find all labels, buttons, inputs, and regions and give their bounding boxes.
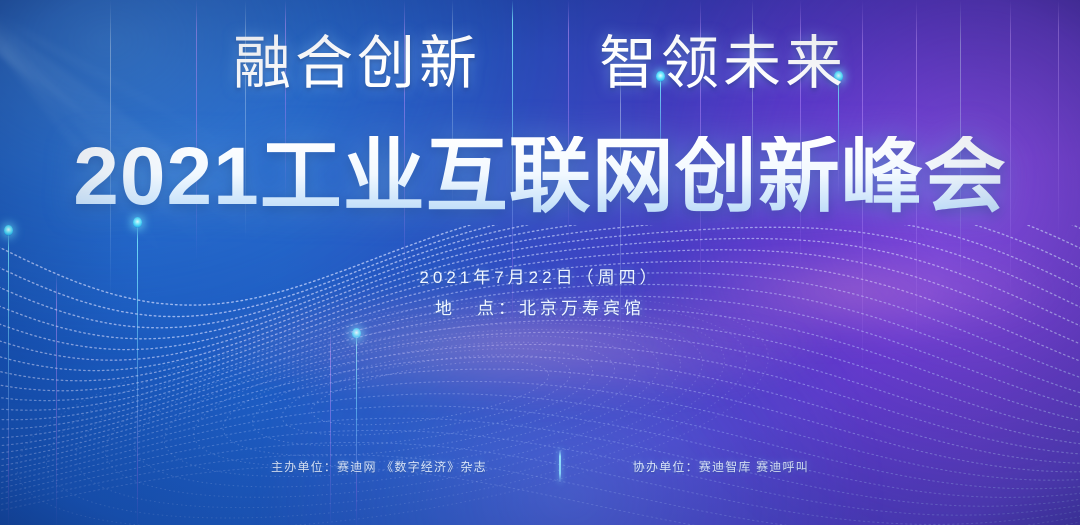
page-title: 2021工业互联网创新峰会 [0,136,1080,218]
credits: 主办单位：赛迪网 《数字经济》杂志 协办单位：赛迪智库 赛迪呼叫 [0,449,1080,483]
tagline-left: 融合创新 [233,34,481,95]
tagline: 融合创新 智领未来 [0,34,1080,95]
co-organizer-credit: 协办单位：赛迪智库 赛迪呼叫 [561,458,809,475]
organizer-credit: 主办单位：赛迪网 《数字经济》杂志 [271,458,559,475]
event-poster: 融合创新 智领未来 2021工业互联网创新峰会 2021年7月22日（周四） 地… [0,0,1080,525]
poster-content: 融合创新 智领未来 2021工业互联网创新峰会 2021年7月22日（周四） 地… [0,0,1080,525]
tagline-right: 智领未来 [599,34,847,95]
event-date: 2021年7月22日（周四） [0,262,1080,293]
event-meta: 2021年7月22日（周四） 地 点：北京万寿宾馆 [0,262,1080,324]
event-place: 地 点：北京万寿宾馆 [0,293,1080,324]
